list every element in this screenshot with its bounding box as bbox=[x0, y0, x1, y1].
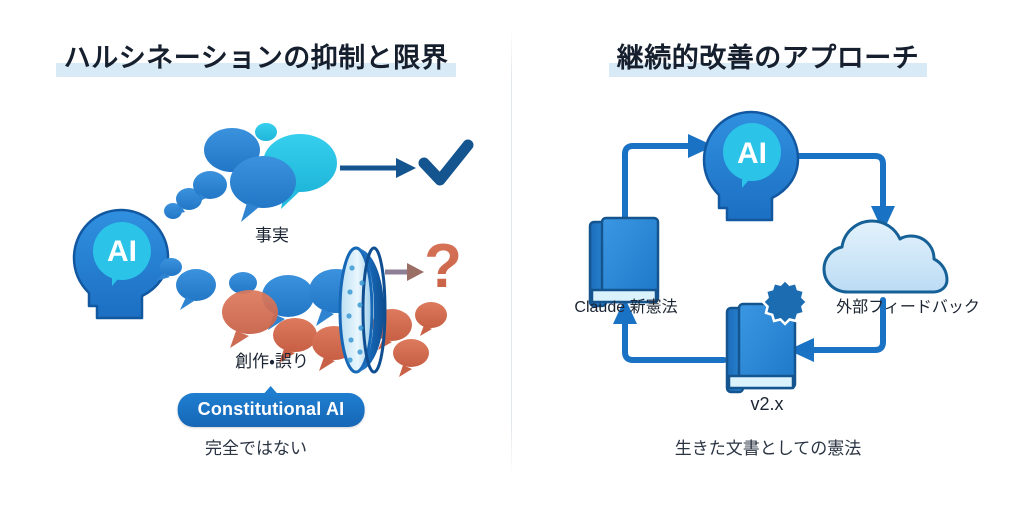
right-panel-title: 継続的改善のアプローチ bbox=[512, 36, 1024, 75]
node-label-constitution-book: Claude 新憲法 bbox=[546, 293, 706, 317]
arrow-book-to-ai bbox=[625, 146, 690, 218]
ai-head-icon: AI bbox=[74, 210, 168, 318]
errors-label: 創作・誤り bbox=[235, 352, 309, 371]
ai-head-label: AI bbox=[107, 235, 137, 268]
cloud-icon bbox=[824, 221, 947, 292]
question-mark-icon: ? bbox=[424, 232, 462, 301]
arrow-book-to-book bbox=[625, 322, 724, 360]
ai-head-icon: AI bbox=[704, 112, 798, 220]
left-panel-caption: 完全ではない bbox=[0, 434, 512, 459]
arrow-ai-to-cloud bbox=[790, 156, 883, 208]
facts-label: 事実 bbox=[255, 226, 289, 245]
ai-head-label-right: AI bbox=[737, 137, 767, 170]
left-panel-title-text: ハルシネーションの抑制と限界 bbox=[58, 36, 454, 75]
arrow-right-icon-errors bbox=[385, 263, 424, 281]
left-panel: ハルシネーションの抑制と限界 bbox=[0, 0, 512, 506]
constitutional-filter-icon bbox=[340, 248, 385, 372]
right-panel: 継続的改善のアプローチ bbox=[512, 0, 1024, 506]
infographic-canvas: ハルシネーションの抑制と限界 bbox=[0, 0, 1024, 506]
arrow-right-icon-facts bbox=[340, 158, 416, 178]
node-label-feedback-cloud: 外部フィードバック bbox=[808, 293, 1008, 317]
svg-text:?: ? bbox=[424, 232, 462, 301]
node-label-updated-book: v2.x bbox=[707, 394, 827, 415]
speech-bubble-cluster-blue-icon bbox=[164, 123, 337, 222]
right-panel-caption: 生きた文書としての憲法 bbox=[512, 434, 1024, 459]
constitutional-ai-badge[interactable]: Constitutional AI bbox=[178, 393, 365, 427]
left-panel-title: ハルシネーションの抑制と限界 bbox=[0, 36, 512, 75]
right-panel-title-text: 継続的改善のアプローチ bbox=[611, 36, 926, 75]
checkmark-icon bbox=[424, 145, 468, 180]
